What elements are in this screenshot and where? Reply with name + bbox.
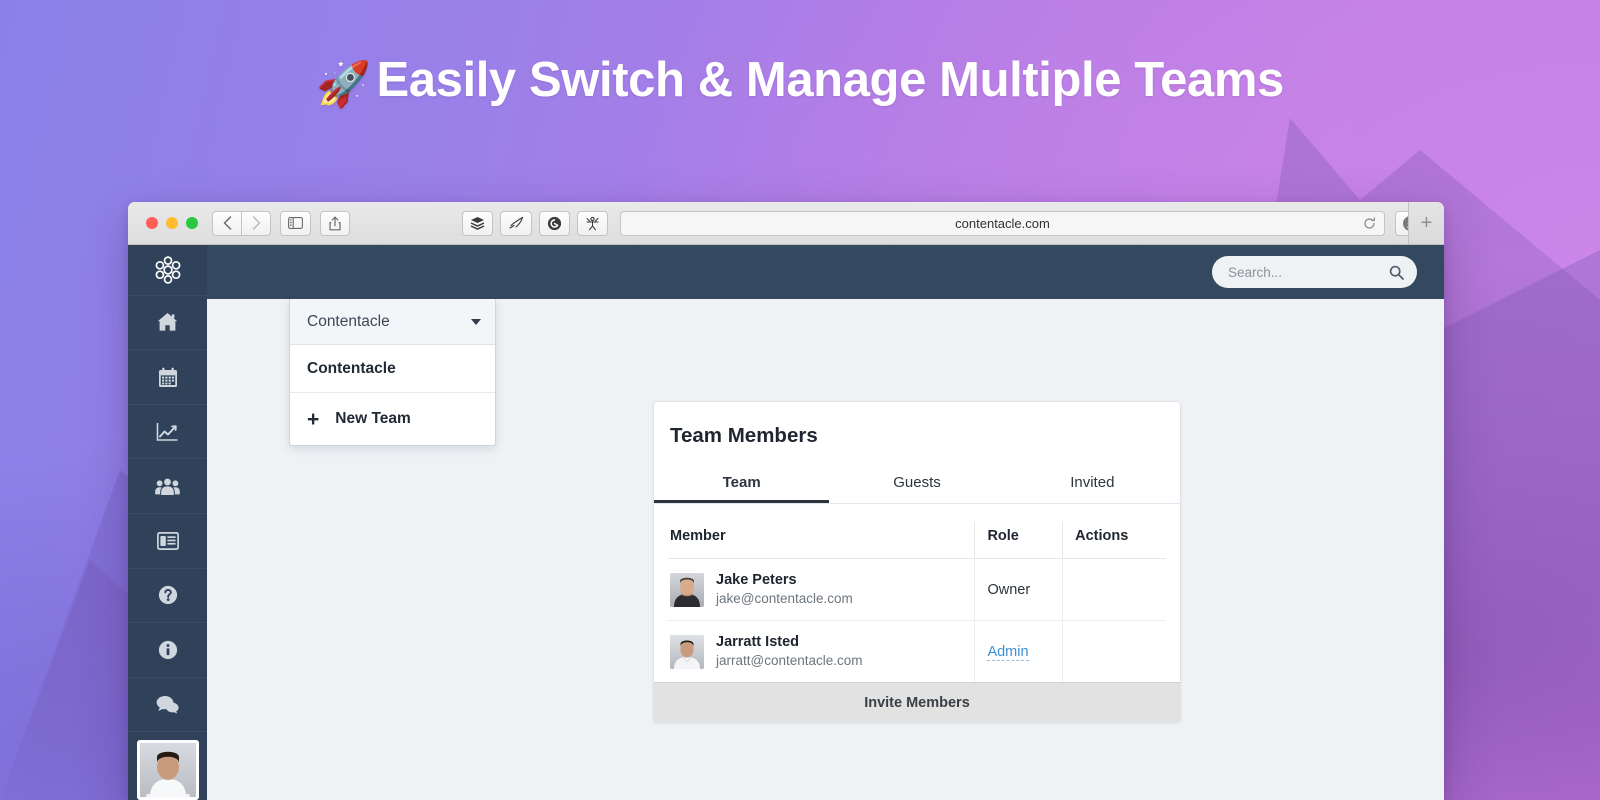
minimize-window-button[interactable] <box>166 217 178 229</box>
sidebar-item-logo[interactable] <box>128 245 207 296</box>
app-body: Search... Contentacle Contentacle <box>128 245 1444 800</box>
team-switcher-label: Contentacle <box>307 313 471 331</box>
member-name: Jarratt Isted <box>716 633 863 652</box>
role-cell: Admin <box>975 621 1063 683</box>
close-window-button[interactable] <box>146 217 158 229</box>
app-content: Contentacle Contentacle + New Team Team … <box>207 299 1444 800</box>
app-sidebar <box>128 245 207 800</box>
member-cell: Jarratt Isted jarratt@contentacle.com <box>668 621 975 683</box>
user-avatar-photo <box>140 743 196 797</box>
role-value: Owner <box>987 582 1030 598</box>
team-option-label: Contentacle <box>307 360 396 378</box>
sidebar-item-info[interactable] <box>128 623 207 678</box>
team-members-card: Team Members Team Guests Invited <box>653 401 1181 723</box>
sidebar-toggle-button[interactable] <box>280 211 311 236</box>
member-avatar <box>670 635 704 669</box>
browser-window: contentacle.com + <box>128 202 1444 800</box>
question-circle-icon <box>158 585 178 605</box>
new-team-button[interactable]: + New Team <box>290 393 495 445</box>
home-icon <box>157 312 178 332</box>
actions-cell[interactable] <box>1063 621 1166 683</box>
chevron-down-icon <box>471 319 481 325</box>
navigation-buttons <box>212 211 271 236</box>
role-cell: Owner <box>975 559 1063 621</box>
rocket-icon: 🚀 <box>316 60 370 109</box>
role-value-editable[interactable]: Admin <box>987 644 1028 661</box>
plus-icon: + <box>307 409 319 430</box>
team-option-contentacle[interactable]: Contentacle <box>290 345 495 393</box>
star-person-icon[interactable] <box>577 211 608 236</box>
column-header-role: Role <box>975 522 1063 559</box>
actions-cell[interactable] <box>1063 559 1166 621</box>
invite-members-button[interactable]: Invite Members <box>654 682 1180 722</box>
chat-bubble-icon <box>156 695 179 714</box>
team-switcher-trigger[interactable]: Contentacle <box>290 299 495 345</box>
calendar-icon <box>158 367 178 388</box>
member-name: Jake Peters <box>716 571 853 590</box>
member-avatar-photo <box>670 573 704 607</box>
new-tab-button[interactable]: + <box>1408 202 1444 244</box>
card-tabs: Team Guests Invited <box>654 464 1180 504</box>
table-header-row: Member Role Actions <box>668 522 1166 559</box>
table-row: Jake Peters jake@contentacle.com Owner <box>668 559 1166 621</box>
page-headline: 🚀Easily Switch & Manage Multiple Teams <box>0 52 1600 110</box>
sidebar-item-calendar[interactable] <box>128 350 207 405</box>
member-email: jarratt@contentacle.com <box>716 652 863 670</box>
tab-team[interactable]: Team <box>654 464 829 503</box>
sidebar-item-content[interactable] <box>128 514 207 569</box>
app-logo-icon <box>151 253 185 287</box>
new-team-label: New Team <box>335 410 411 428</box>
member-avatar-photo <box>670 635 704 669</box>
tab-guests[interactable]: Guests <box>829 464 1004 503</box>
maximize-window-button[interactable] <box>186 217 198 229</box>
invite-members-label: Invite Members <box>864 695 970 711</box>
share-button[interactable] <box>320 211 350 236</box>
layers-icon[interactable] <box>462 211 493 236</box>
headline-text: Easily Switch & Manage Multiple Teams <box>377 53 1284 107</box>
list-panel-icon <box>157 532 179 550</box>
browser-toolbar: contentacle.com + <box>128 202 1444 245</box>
team-switcher-dropdown: Contentacle Contentacle + New Team <box>289 299 496 446</box>
table-row: Jarratt Isted jarratt@contentacle.com Ad… <box>668 621 1166 683</box>
users-icon <box>155 477 180 496</box>
reload-icon[interactable] <box>1363 217 1376 230</box>
tab-team-label: Team <box>723 474 761 491</box>
member-cell: Jake Peters jake@contentacle.com <box>668 559 975 621</box>
sidebar-item-team[interactable] <box>128 459 207 514</box>
back-button[interactable] <box>212 211 242 236</box>
window-controls <box>146 217 198 229</box>
page-title: Team Members <box>654 402 1180 448</box>
pen-icon[interactable] <box>500 211 532 236</box>
app-topbar: Search... <box>207 245 1444 299</box>
members-table: Member Role Actions <box>668 522 1166 682</box>
member-email: jake@contentacle.com <box>716 590 853 608</box>
extension-buttons <box>462 211 608 236</box>
member-avatar <box>670 573 704 607</box>
chart-line-icon <box>156 422 179 442</box>
search-icon <box>1389 265 1404 280</box>
url-text: contentacle.com <box>621 216 1384 231</box>
tab-guests-label: Guests <box>893 474 941 491</box>
address-bar[interactable]: contentacle.com <box>620 211 1385 236</box>
column-header-actions: Actions <box>1063 522 1166 559</box>
forward-button[interactable] <box>241 211 271 236</box>
tab-invited[interactable]: Invited <box>1005 464 1180 503</box>
column-header-member: Member <box>668 522 975 559</box>
search-input[interactable]: Search... <box>1212 256 1417 288</box>
sidebar-item-home[interactable] <box>128 296 207 351</box>
sidebar-item-help[interactable] <box>128 569 207 624</box>
info-circle-icon <box>158 640 178 660</box>
sidebar-item-analytics[interactable] <box>128 405 207 460</box>
app-main: Search... Contentacle Contentacle <box>207 245 1444 800</box>
search-placeholder: Search... <box>1228 265 1389 280</box>
sidebar-item-messages[interactable] <box>128 678 207 733</box>
avatar[interactable] <box>137 740 199 800</box>
tab-invited-label: Invited <box>1070 474 1114 491</box>
grammarly-icon[interactable] <box>539 211 570 236</box>
